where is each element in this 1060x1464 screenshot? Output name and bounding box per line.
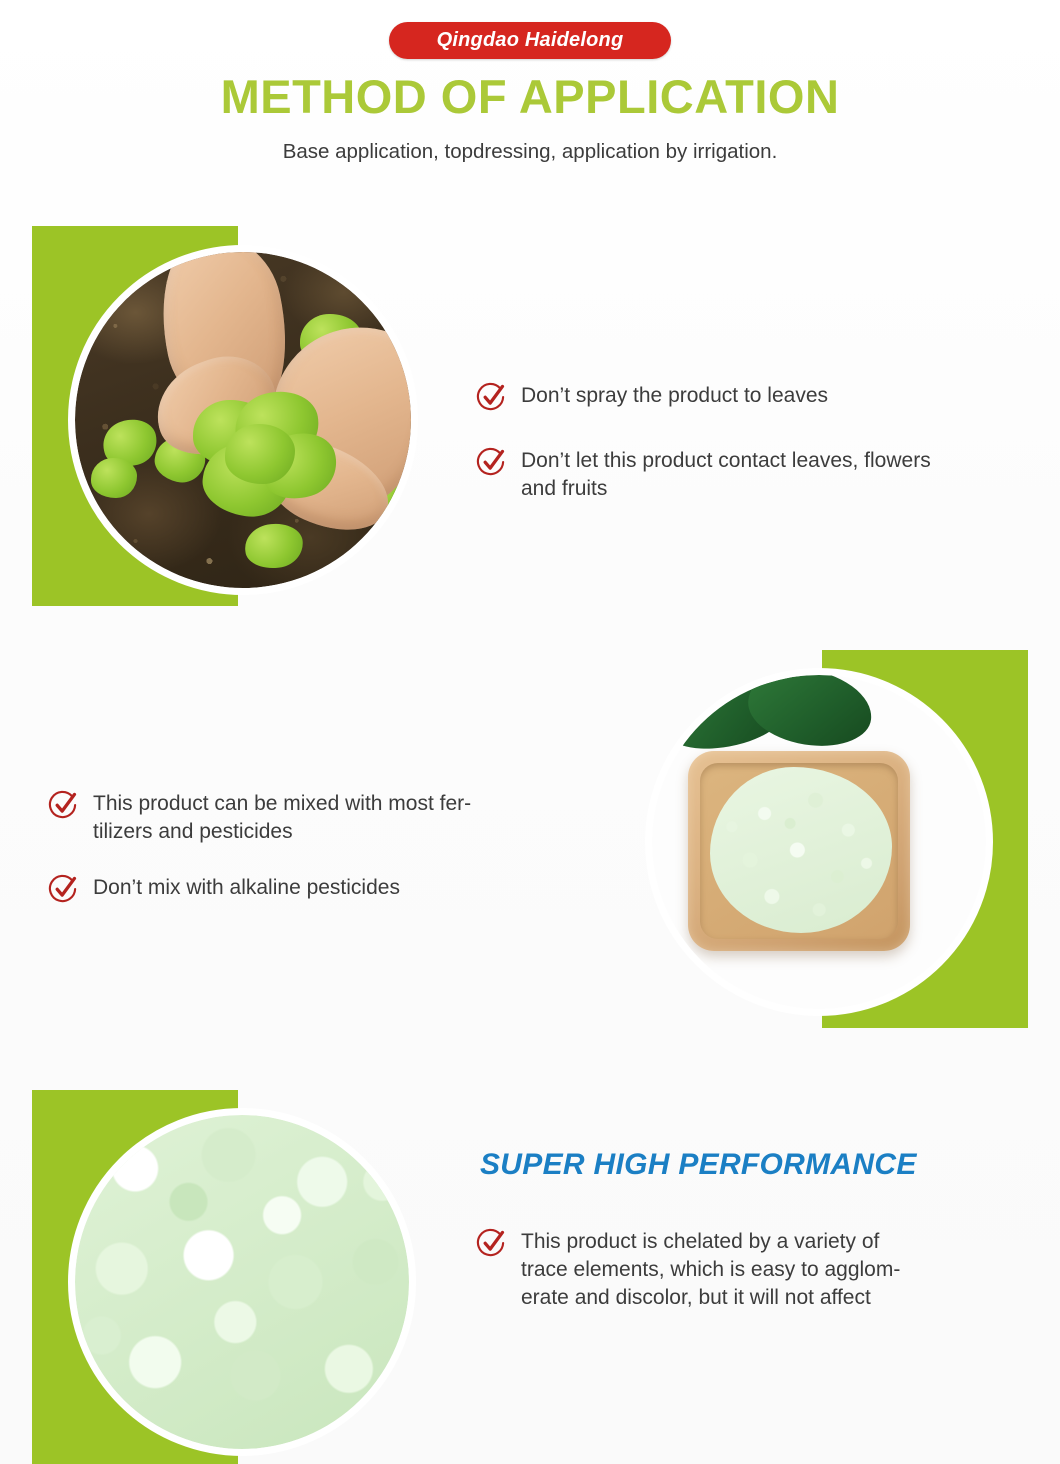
bullet-text: This product can be mixed with most fer-… (93, 790, 471, 846)
section-3-bullet-list: This product is chelated by a variety of… (476, 1228, 1052, 1312)
bullet-item: Don’t let this product contact leaves, f… (476, 447, 1052, 503)
section-2-bullet-list: This product can be mixed with most fer-… (48, 790, 608, 905)
product-detail-page: Qingdao Haidelong METHOD OF APPLICATION … (0, 0, 1060, 1464)
wooden-tray-granules-photo (645, 668, 993, 1016)
check-circle-icon (476, 382, 507, 413)
bullet-text: Don’t mix with alkaline pesticides (93, 874, 400, 902)
check-circle-icon (476, 447, 507, 478)
granule-closeup-photo (68, 1108, 416, 1456)
bullet-text: Don’t let this product contact leaves, f… (521, 447, 931, 503)
page-subtitle: Base application, topdressing, applicati… (0, 140, 1060, 164)
check-circle-icon (48, 790, 79, 821)
bullet-text: This product is chelated by a variety of… (521, 1228, 900, 1312)
bullet-text: Don’t spray the product to leaves (521, 382, 828, 410)
bullet-item: This product can be mixed with most fer-… (48, 790, 608, 846)
brand-badge: Qingdao Haidelong (389, 22, 671, 59)
section-1-bullet-list: Don’t spray the product to leaves Don’t … (476, 382, 1052, 503)
page-title: METHOD OF APPLICATION (0, 72, 1060, 121)
check-circle-icon (48, 874, 79, 905)
bullet-item: Don’t spray the product to leaves (476, 382, 1052, 413)
check-circle-icon (476, 1228, 507, 1259)
super-high-performance-heading: SUPER HIGH PERFORMANCE (480, 1148, 917, 1182)
brand-badge-label: Qingdao Haidelong (437, 29, 624, 52)
bullet-item: Don’t mix with alkaline pesticides (48, 874, 608, 905)
bullet-item: This product is chelated by a variety of… (476, 1228, 1052, 1312)
hands-planting-seedling-photo (68, 245, 418, 595)
